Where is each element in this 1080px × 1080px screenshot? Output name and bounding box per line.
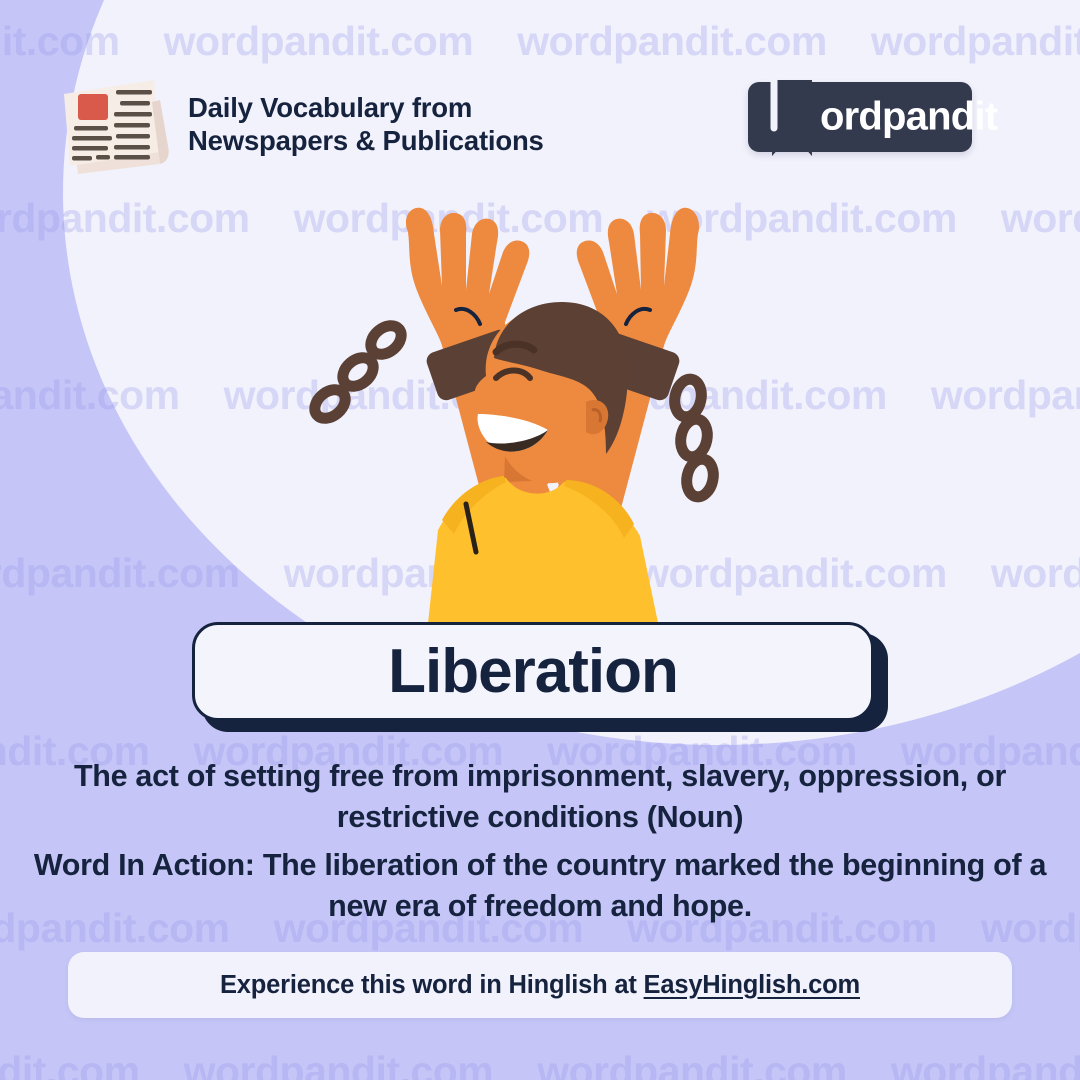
banner-prefix: Experience this word in Hinglish at bbox=[220, 971, 644, 999]
header-title-line1: Daily Vocabulary from bbox=[188, 92, 472, 123]
header-title: Daily Vocabulary from Newspapers & Publi… bbox=[188, 92, 544, 157]
newspaper-icon bbox=[56, 68, 174, 180]
easyhinglish-link[interactable]: EasyHinglish.com bbox=[644, 971, 860, 999]
word-card: Liberation bbox=[192, 622, 888, 732]
bookmark-w-icon bbox=[768, 76, 816, 162]
left-chain-icon bbox=[309, 320, 406, 424]
hinglish-banner[interactable]: Experience this word in Hinglish at Easy… bbox=[68, 952, 1012, 1018]
poster-canvas: wordpandit.comwordpandit.comwordpandit.c… bbox=[0, 0, 1080, 1080]
brand-logo[interactable]: ordpandit bbox=[748, 82, 972, 152]
man-breaking-chains-illustration bbox=[290, 190, 810, 660]
header-title-line2: Newspapers & Publications bbox=[188, 125, 544, 158]
word-example: Word In Action: The liberation of the co… bbox=[0, 845, 1080, 926]
banner-text: Experience this word in Hinglish at Easy… bbox=[220, 971, 860, 1000]
word-term: Liberation bbox=[388, 641, 678, 703]
brand-name: ordpandit bbox=[820, 95, 997, 140]
word-definition: The act of setting free from imprisonmen… bbox=[0, 756, 1080, 837]
